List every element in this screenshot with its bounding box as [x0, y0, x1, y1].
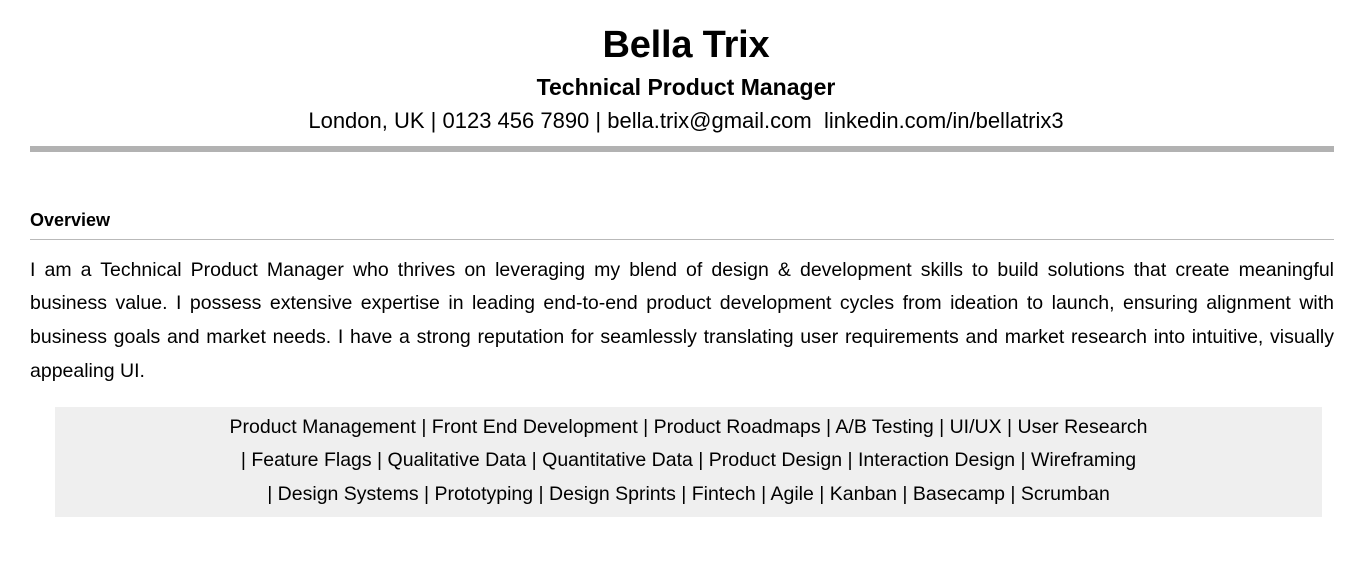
resume-page: Bella Trix Technical Product Manager Lon… [0, 0, 1372, 578]
skills-line-2: | Feature Flags | Qualitative Data | Qua… [59, 444, 1318, 478]
skills-highlight-box: Product Management | Front End Developme… [55, 407, 1322, 518]
skills-line-1: Product Management | Front End Developme… [59, 411, 1318, 445]
candidate-job-title: Technical Product Manager [0, 73, 1372, 103]
candidate-name: Bella Trix [0, 24, 1372, 67]
overview-heading-rule [30, 239, 1334, 240]
overview-heading-wrap: Overview [30, 152, 1334, 240]
overview-body-text: I am a Technical Product Manager who thr… [30, 254, 1334, 389]
contact-line: London, UK | 0123 456 7890 | bella.trix@… [0, 107, 1372, 136]
overview-heading: Overview [30, 210, 1334, 239]
overview-section: Overview I am a Technical Product Manage… [30, 152, 1334, 389]
resume-header: Bella Trix Technical Product Manager Lon… [0, 0, 1372, 136]
skills-line-3: | Design Systems | Prototyping | Design … [59, 478, 1318, 512]
